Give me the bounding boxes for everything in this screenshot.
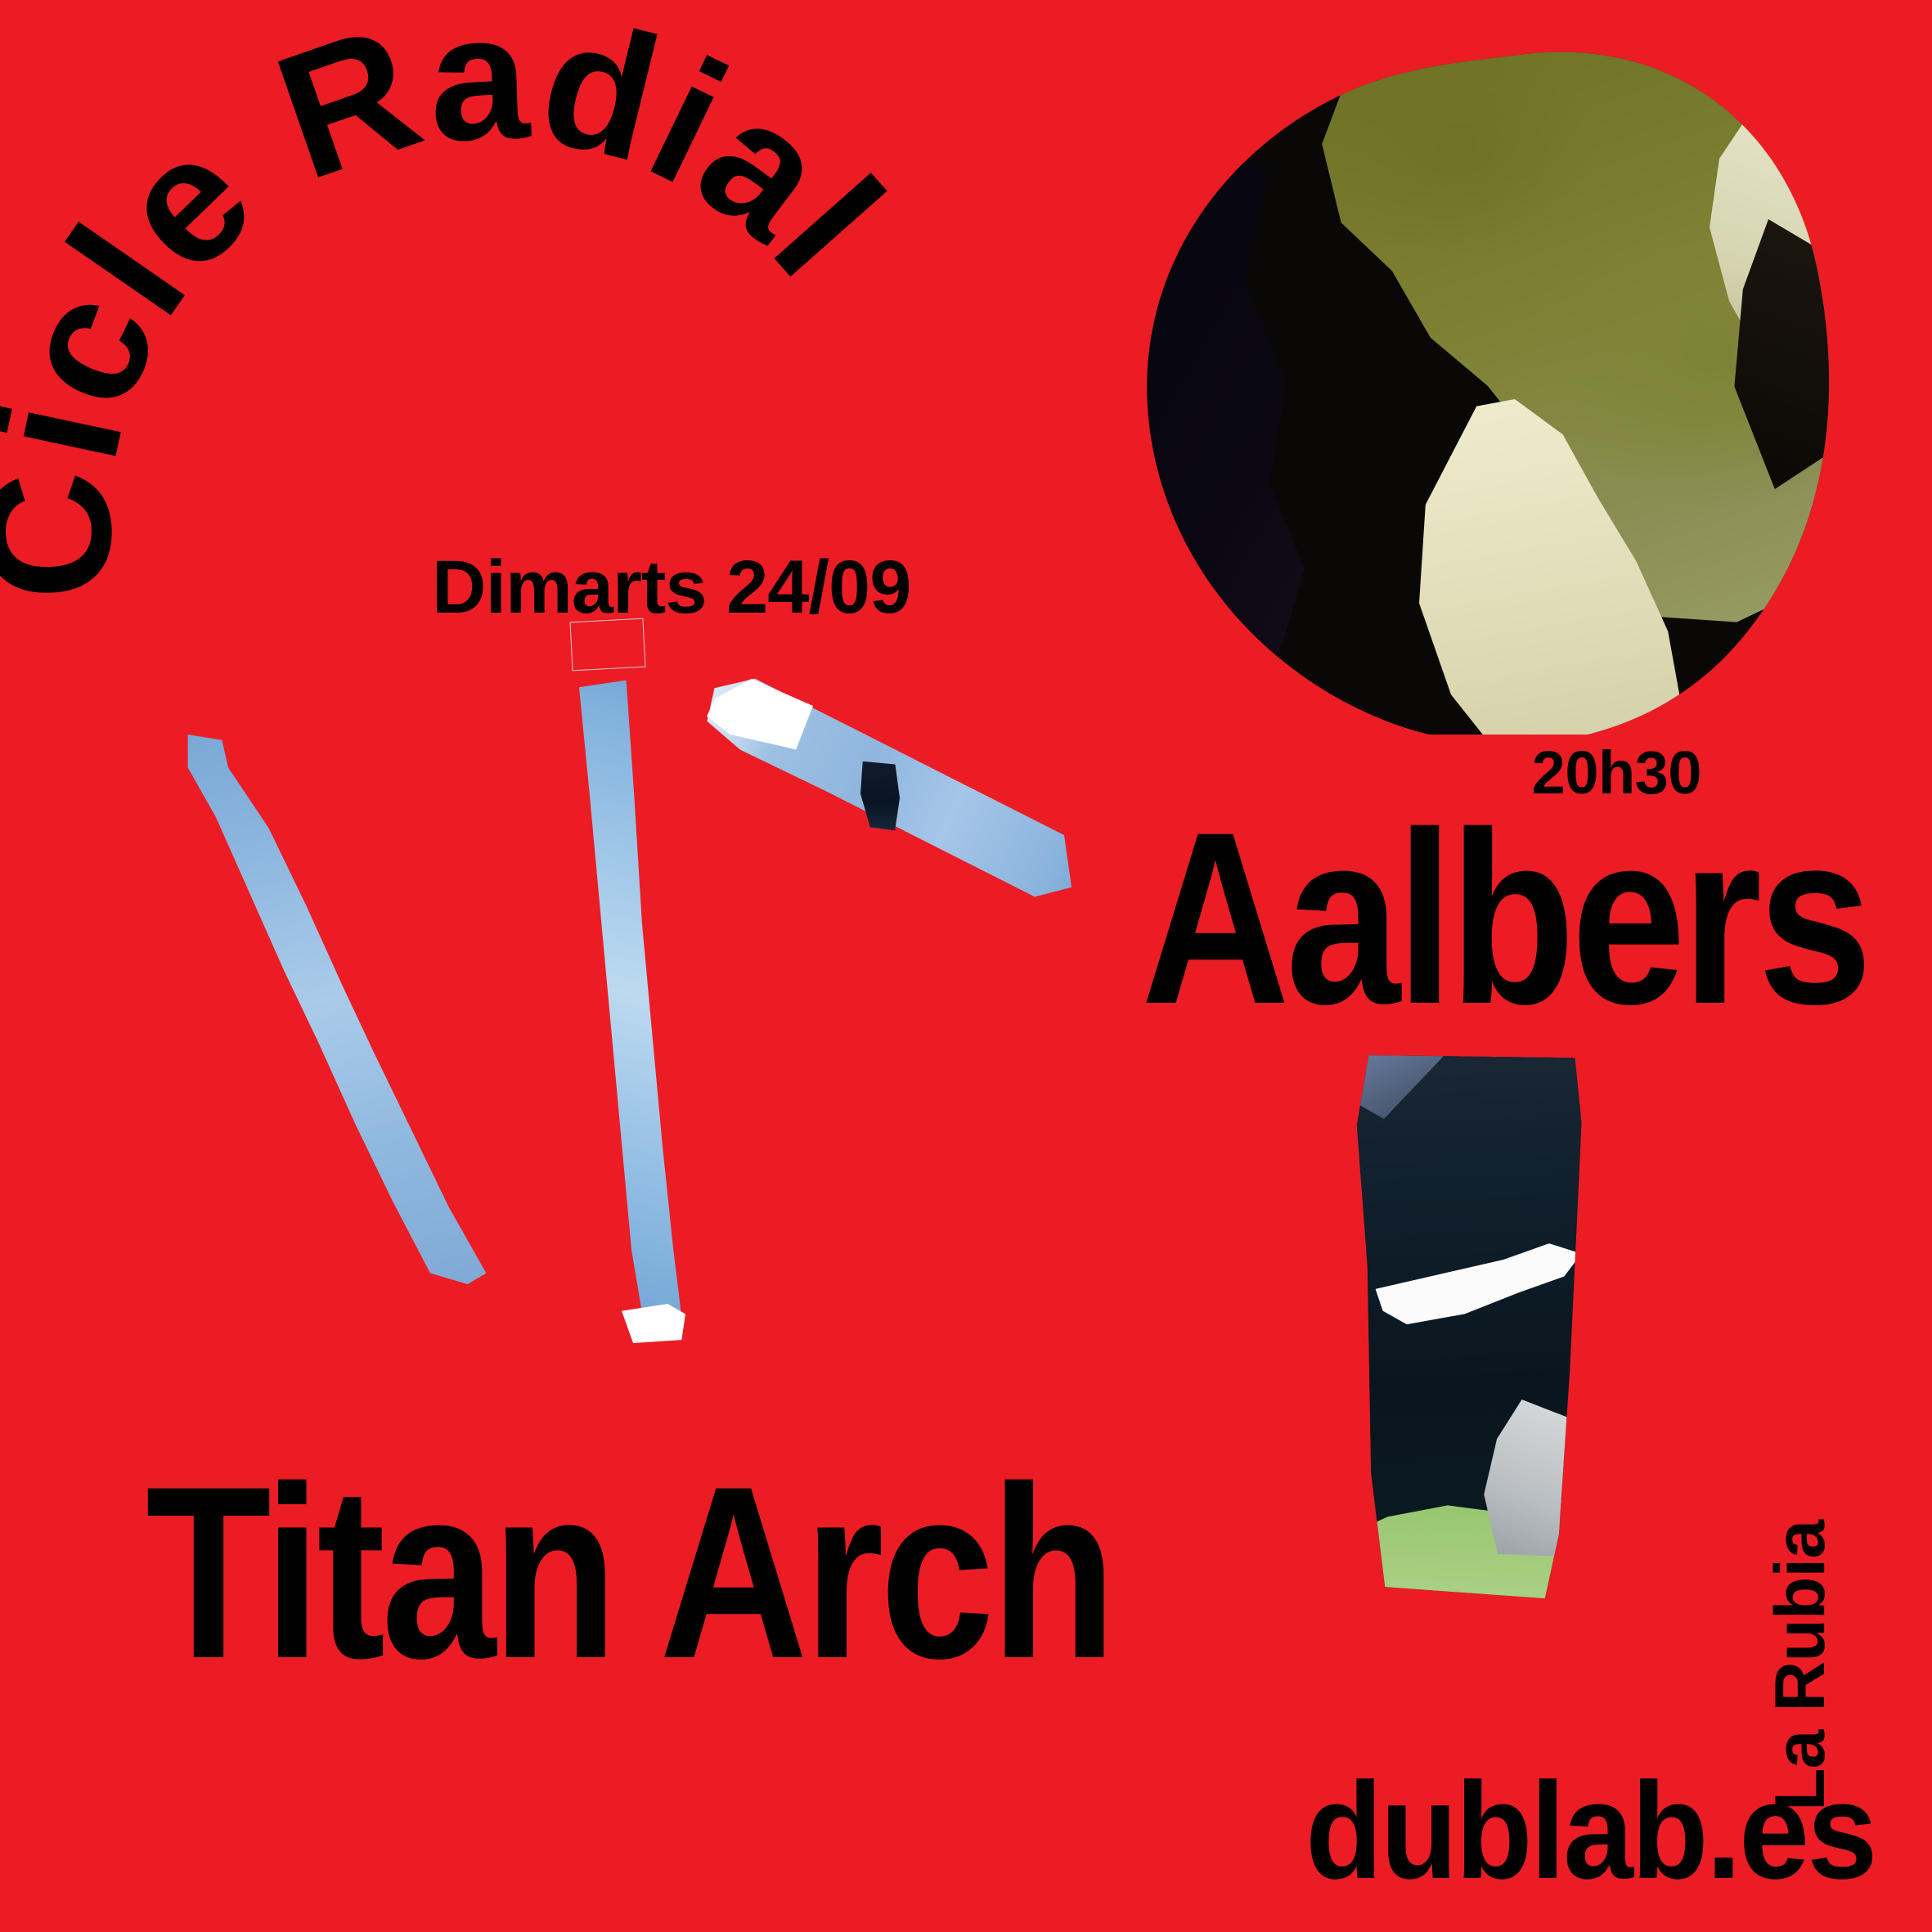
series-title-text: Cicle Radial <box>0 0 920 603</box>
blue-strip-left <box>182 735 492 1284</box>
support-act-name: Titan Arch <box>146 1449 1112 1695</box>
blue-strip-middle-body <box>566 623 697 1335</box>
blue-strip-left-body <box>182 735 492 1284</box>
organic-blob-photo <box>1142 47 1829 735</box>
headliner-name: Aalbers <box>1141 795 1868 1040</box>
blue-strip-middle-bottom-tip <box>622 1304 685 1343</box>
website-url[interactable]: dublab.es <box>1305 1762 1876 1899</box>
dark-landscape-photo <box>1334 1049 1584 1599</box>
blue-strip-middle <box>566 623 697 1335</box>
blue-strip-diagonal <box>703 669 1072 906</box>
blue-strip-diagonal-navy-band <box>858 760 903 832</box>
event-date: Dimarts 24/09 <box>432 550 910 625</box>
blob-clip <box>1142 47 1829 735</box>
photo-rect-clip <box>1334 1049 1584 1599</box>
poster-canvas: Cicle Radial Dima <box>0 0 1932 1932</box>
